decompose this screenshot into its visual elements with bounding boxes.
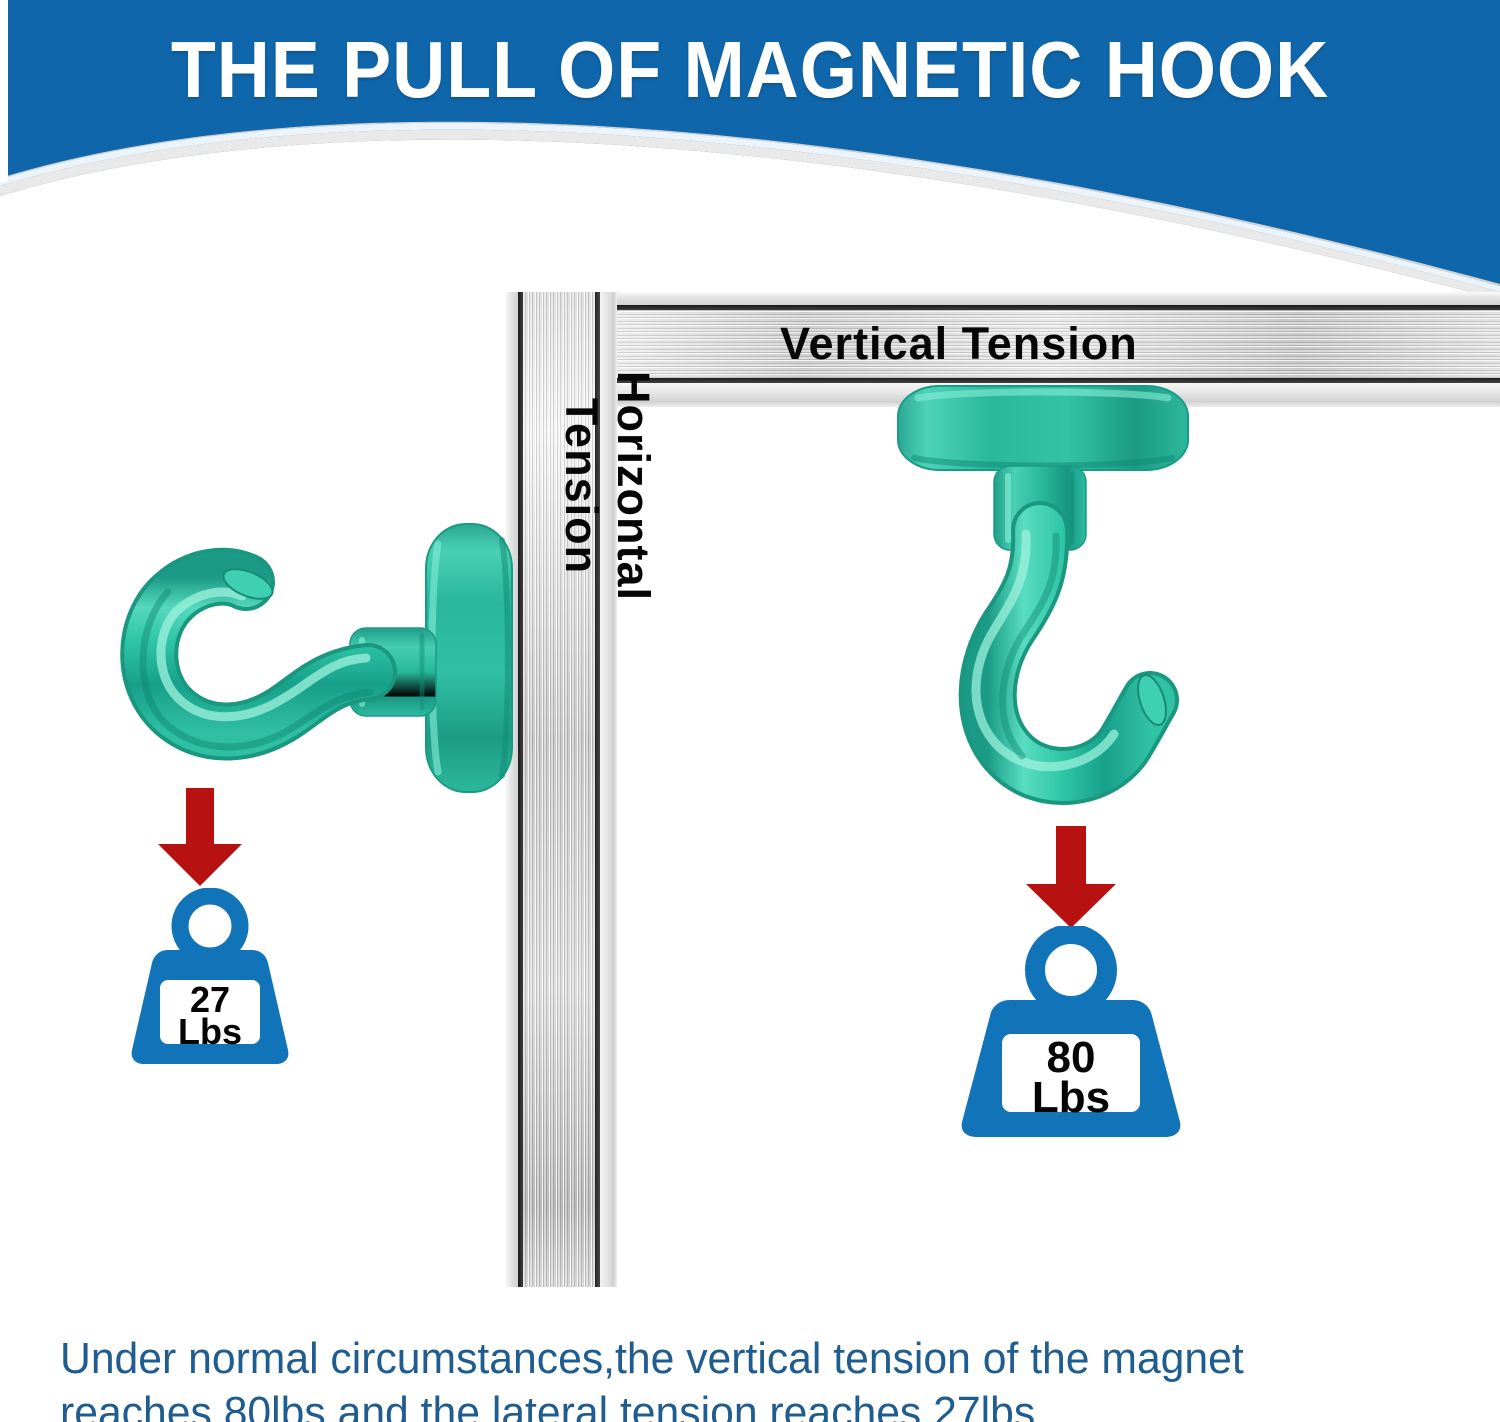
force-arrow-down-right <box>1018 826 1124 930</box>
magnetic-hook-vertical <box>860 380 1220 840</box>
caption-text: Under normal circumstances,the vertical … <box>60 1332 1408 1422</box>
magnet-disc-horizontal <box>426 524 512 792</box>
vertical-tension-label: Vertical Tension <box>780 318 1138 370</box>
hook-bar-vertical <box>976 530 1171 776</box>
hook-bar-horizontal <box>143 563 370 747</box>
magnet-disc-vertical <box>898 386 1188 470</box>
weight-icon-80: 80 Lbs <box>918 926 1224 1138</box>
weight-icon-27: 27 Lbs <box>110 888 310 1066</box>
infographic-root: THE PULL OF MAGNETIC HOOK Vertical Tensi… <box>0 0 1500 1422</box>
weight-unit-27: Lbs <box>110 1014 310 1050</box>
weight-unit-80: Lbs <box>918 1076 1224 1120</box>
page-title: THE PULL OF MAGNETIC HOOK <box>60 24 1440 116</box>
header-banner: THE PULL OF MAGNETIC HOOK <box>0 0 1500 300</box>
beam-edge-top <box>505 292 1500 306</box>
magnetic-hook-horizontal <box>78 500 538 840</box>
banner-shape <box>0 0 1500 300</box>
force-arrow-down-left <box>150 788 250 888</box>
beam-line-top <box>505 305 1500 310</box>
horizontal-tension-label: Horizontal Tension <box>555 316 659 656</box>
